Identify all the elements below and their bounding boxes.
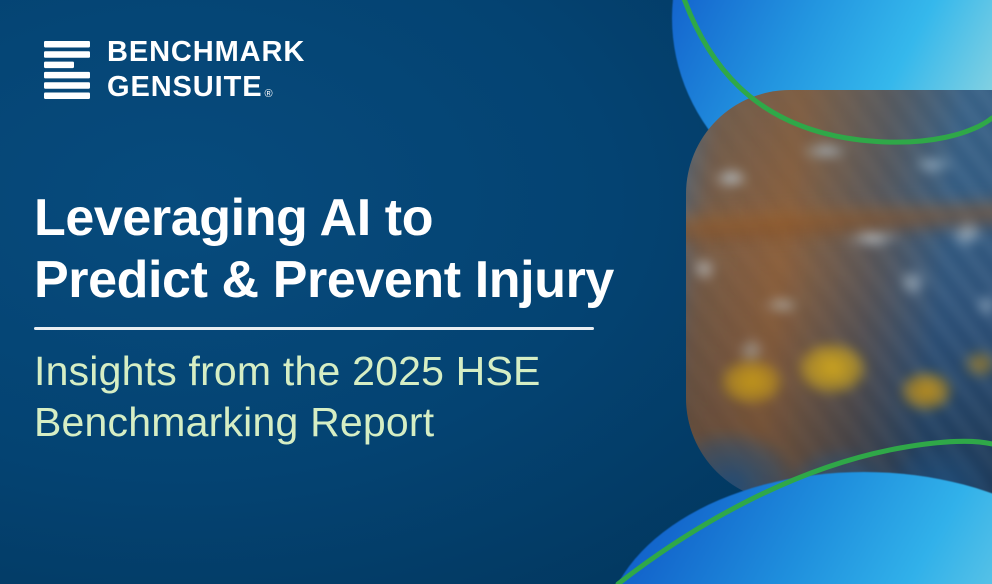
page-title-line-1: Leveraging AI to	[34, 188, 614, 250]
brand-logo-line-2: GENSUITE ®	[107, 73, 305, 102]
hero-photo-tint	[686, 90, 992, 502]
page-subtitle: Insights from the 2025 HSE Benchmarking …	[34, 346, 541, 449]
stacked-bars-logo-mark-icon	[44, 41, 90, 99]
brand-logo-line-1: BENCHMARK	[107, 38, 305, 67]
title-divider	[34, 327, 594, 330]
brand-logo-wordmark: BENCHMARK GENSUITE ®	[107, 38, 305, 102]
brand-logo[interactable]: BENCHMARK GENSUITE ®	[44, 38, 305, 102]
marketing-banner: BENCHMARK GENSUITE ® Leveraging AI to Pr…	[0, 0, 992, 584]
page-title-line-2: Predict & Prevent Injury	[34, 250, 614, 312]
page-title: Leveraging AI to Predict & Prevent Injur…	[34, 188, 614, 312]
page-subtitle-line-2: Benchmarking Report	[34, 397, 541, 448]
hero-photo	[686, 90, 992, 502]
brand-logo-line-2-text: GENSUITE	[107, 73, 262, 102]
registered-trademark-icon: ®	[264, 89, 273, 100]
page-subtitle-line-1: Insights from the 2025 HSE	[34, 346, 541, 397]
